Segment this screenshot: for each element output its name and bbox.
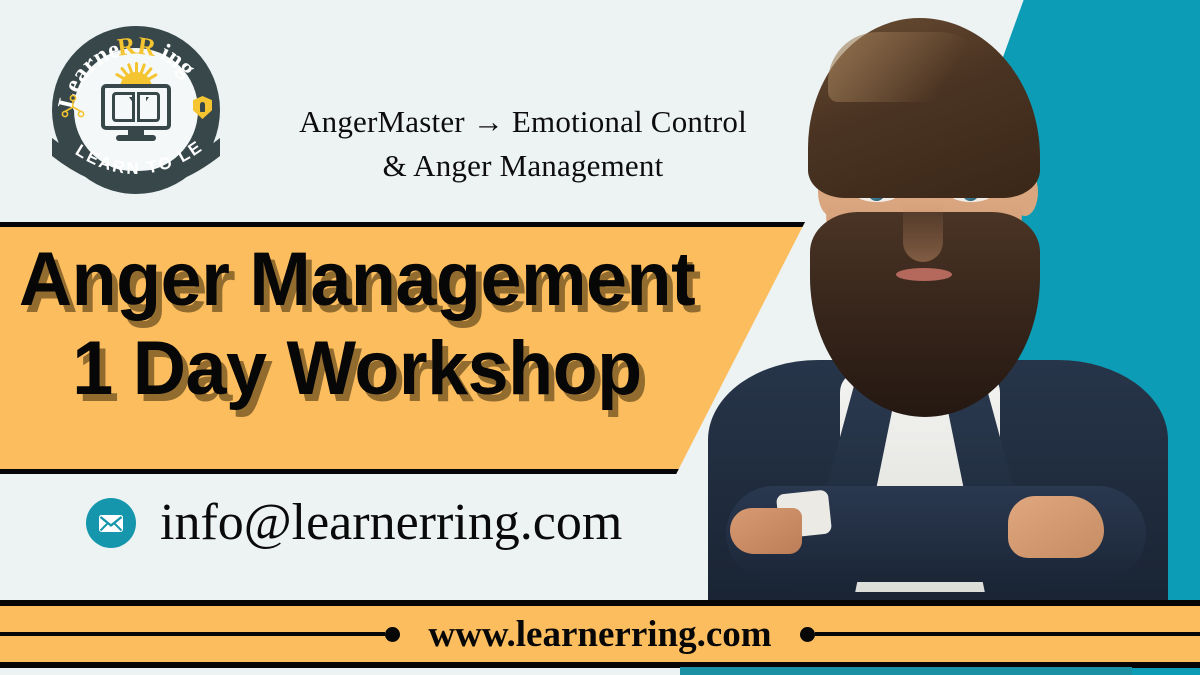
- subtitle-line-1: AngerMaster → Emotional Control: [258, 100, 788, 144]
- open-book-icon: [112, 92, 160, 122]
- svg-text:RR: RR: [116, 32, 159, 62]
- logo-ribbon-banner: LEARN TO LEAD: [46, 130, 226, 192]
- hair: [808, 18, 1040, 198]
- promo-poster: Learne RR ing: [0, 0, 1200, 675]
- footer-dot-left: [385, 627, 400, 642]
- footer-rule-right: [815, 632, 1200, 636]
- network-node-icon: [61, 94, 85, 122]
- presenter-photo: [690, 0, 1200, 660]
- brand-logo[interactable]: Learne RR ing: [52, 26, 220, 194]
- page-title: Anger Management 1 Day Workshop: [11, 236, 704, 414]
- email-address[interactable]: info@learnerring.com: [160, 497, 622, 549]
- footer-bar: www.learnerring.com: [0, 600, 1200, 668]
- footer-rule-left: [0, 632, 385, 636]
- hand-right: [1008, 496, 1104, 558]
- website-url[interactable]: www.learnerring.com: [400, 613, 799, 656]
- email-row[interactable]: info@learnerring.com: [86, 497, 622, 549]
- hand-left: [730, 508, 802, 554]
- teal-bottom-strip: [680, 667, 1132, 675]
- subtitle: AngerMaster → Emotional Control & Anger …: [258, 100, 788, 188]
- headline-line-2: 1 Day Workshop: [11, 325, 704, 414]
- headline-line-1: Anger Management: [11, 236, 704, 325]
- envelope-icon: [86, 498, 136, 548]
- nose: [903, 200, 943, 262]
- footer-dot-right: [800, 627, 815, 642]
- mouth: [896, 268, 952, 281]
- subtitle-line-2: & Anger Management: [258, 144, 788, 188]
